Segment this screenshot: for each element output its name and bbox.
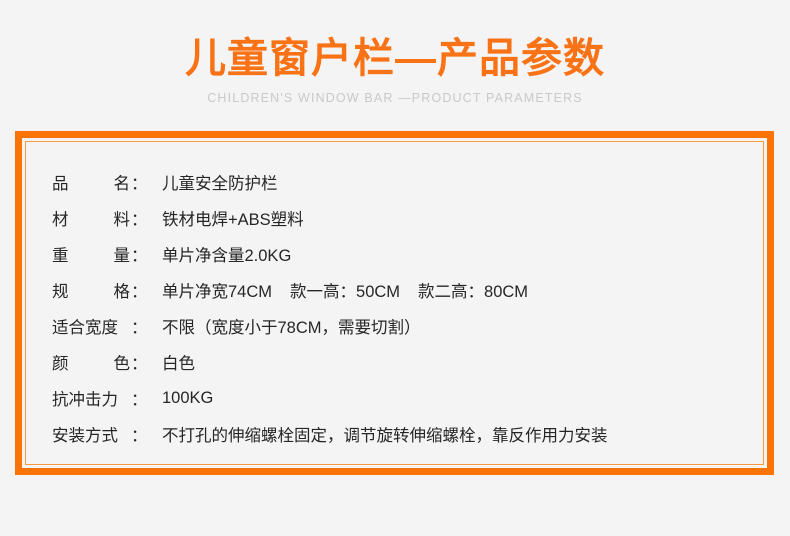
label-colon: ： bbox=[131, 427, 148, 445]
spec-label-impact-resistance: 抗冲击力 ： bbox=[52, 380, 156, 416]
product-parameters-page: 儿童窗户栏—产品参数 CHILDREN'S WINDOW BAR —PRODUC… bbox=[0, 0, 790, 536]
label-char: 重 bbox=[52, 242, 69, 266]
label-char: 安装方式 bbox=[52, 422, 118, 446]
spec-value-specification-height-2: 款二高：80CM bbox=[418, 283, 528, 301]
spec-value-specification-height-1: 款一高：50CM bbox=[290, 283, 400, 301]
label-colon: ： bbox=[131, 355, 148, 373]
table-row: 适合宽度 ： 不限（宽度小于78CM，需要切割） bbox=[52, 308, 763, 344]
spec-value-specification: 单片净宽74CM款一高：50CM款二高：80CM bbox=[156, 272, 763, 308]
label-char: 量 bbox=[114, 242, 131, 266]
label-colon: ： bbox=[131, 247, 148, 265]
spec-table-body: 品 名 ： 儿童安全防护栏 材 料 ： 铁材电 bbox=[52, 164, 763, 452]
label-char: 名 bbox=[114, 170, 131, 194]
table-row: 安装方式 ： 不打孔的伸缩螺栓固定，调节旋转伸缩螺栓，靠反作用力安装 bbox=[52, 416, 763, 452]
label-char: 适合宽度 bbox=[52, 314, 118, 338]
spec-box-outer-border: 品 名 ： 儿童安全防护栏 材 料 ： 铁材电 bbox=[15, 131, 774, 475]
label-char: 品 bbox=[52, 170, 69, 194]
spec-label-product-name: 品 名 ： bbox=[52, 164, 156, 200]
spec-label-specification: 规 格 ： bbox=[52, 272, 156, 308]
page-title: 儿童窗户栏—产品参数 bbox=[0, 32, 790, 84]
table-row: 重 量 ： 单片净含量2.0KG bbox=[52, 236, 763, 272]
label-char: 规 bbox=[52, 278, 69, 302]
table-row: 材 料 ： 铁材电焊+ABS塑料 bbox=[52, 200, 763, 236]
label-colon: ： bbox=[131, 175, 148, 193]
page-subtitle: CHILDREN'S WINDOW BAR —PRODUCT PARAMETER… bbox=[0, 90, 790, 106]
spec-value-weight: 单片净含量2.0KG bbox=[156, 236, 763, 272]
label-colon: ： bbox=[131, 283, 148, 301]
spec-label-weight: 重 量 ： bbox=[52, 236, 156, 272]
spec-value-impact-resistance: 100KG bbox=[156, 380, 763, 416]
spec-table: 品 名 ： 儿童安全防护栏 材 料 ： 铁材电 bbox=[52, 164, 763, 452]
spec-value-material: 铁材电焊+ABS塑料 bbox=[156, 200, 763, 236]
label-colon: ： bbox=[131, 391, 148, 409]
spec-label-color: 颜 色 ： bbox=[52, 344, 156, 380]
label-char: 色 bbox=[114, 350, 131, 374]
table-row: 抗冲击力 ： 100KG bbox=[52, 380, 763, 416]
spec-label-suitable-width: 适合宽度 ： bbox=[52, 308, 156, 344]
page-header: 儿童窗户栏—产品参数 CHILDREN'S WINDOW BAR —PRODUC… bbox=[0, 32, 790, 106]
label-char: 抗冲击力 bbox=[52, 386, 118, 410]
label-char: 材 bbox=[52, 206, 69, 230]
spec-value-product-name: 儿童安全防护栏 bbox=[156, 164, 763, 200]
table-row: 规 格 ： 单片净宽74CM款一高：50CM款二高：80CM bbox=[52, 272, 763, 308]
spec-value-specification-width: 单片净宽74CM bbox=[162, 283, 272, 301]
label-char: 格 bbox=[114, 278, 131, 302]
spec-value-color: 白色 bbox=[156, 344, 763, 380]
label-char: 颜 bbox=[52, 350, 69, 374]
spec-value-suitable-width: 不限（宽度小于78CM，需要切割） bbox=[156, 308, 763, 344]
label-colon: ： bbox=[131, 319, 148, 337]
label-colon: ： bbox=[131, 211, 148, 229]
table-row: 品 名 ： 儿童安全防护栏 bbox=[52, 164, 763, 200]
label-char: 料 bbox=[114, 206, 131, 230]
spec-value-installation-method: 不打孔的伸缩螺栓固定，调节旋转伸缩螺栓，靠反作用力安装 bbox=[156, 416, 763, 452]
spec-box-inner-border: 品 名 ： 儿童安全防护栏 材 料 ： 铁材电 bbox=[25, 141, 764, 465]
spec-label-installation-method: 安装方式 ： bbox=[52, 416, 156, 452]
table-row: 颜 色 ： 白色 bbox=[52, 344, 763, 380]
spec-label-material: 材 料 ： bbox=[52, 200, 156, 236]
